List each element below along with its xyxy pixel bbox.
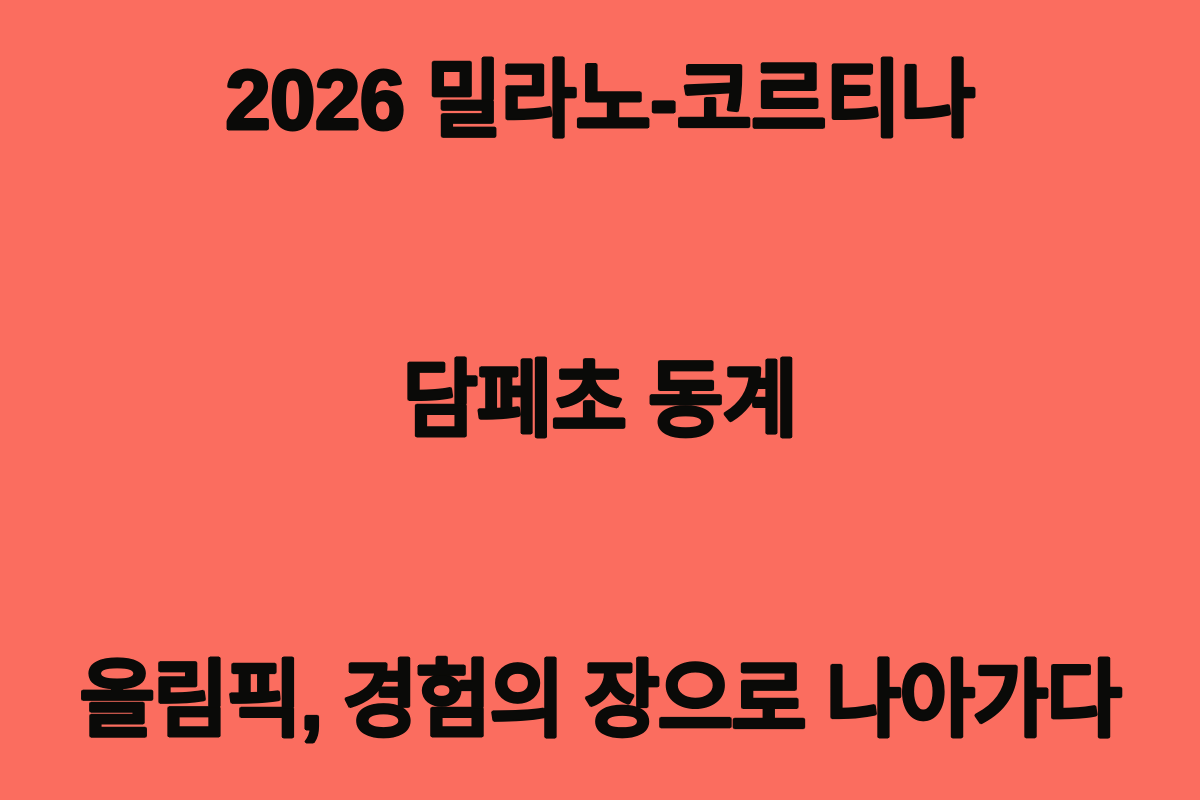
headline-line-2: 담페초 동계 bbox=[18, 350, 1182, 450]
headline-line-1: 2026 밀라노-코르티나 bbox=[18, 50, 1182, 150]
page-title: 2026 밀라노-코르티나 담페초 동계 올림픽, 경험의 장으로 나아가다 bbox=[18, 0, 1182, 800]
poster-canvas: 2026 밀라노-코르티나 담페초 동계 올림픽, 경험의 장으로 나아가다 bbox=[0, 0, 1200, 800]
headline-line-3: 올림픽, 경험의 장으로 나아가다 bbox=[18, 650, 1182, 750]
